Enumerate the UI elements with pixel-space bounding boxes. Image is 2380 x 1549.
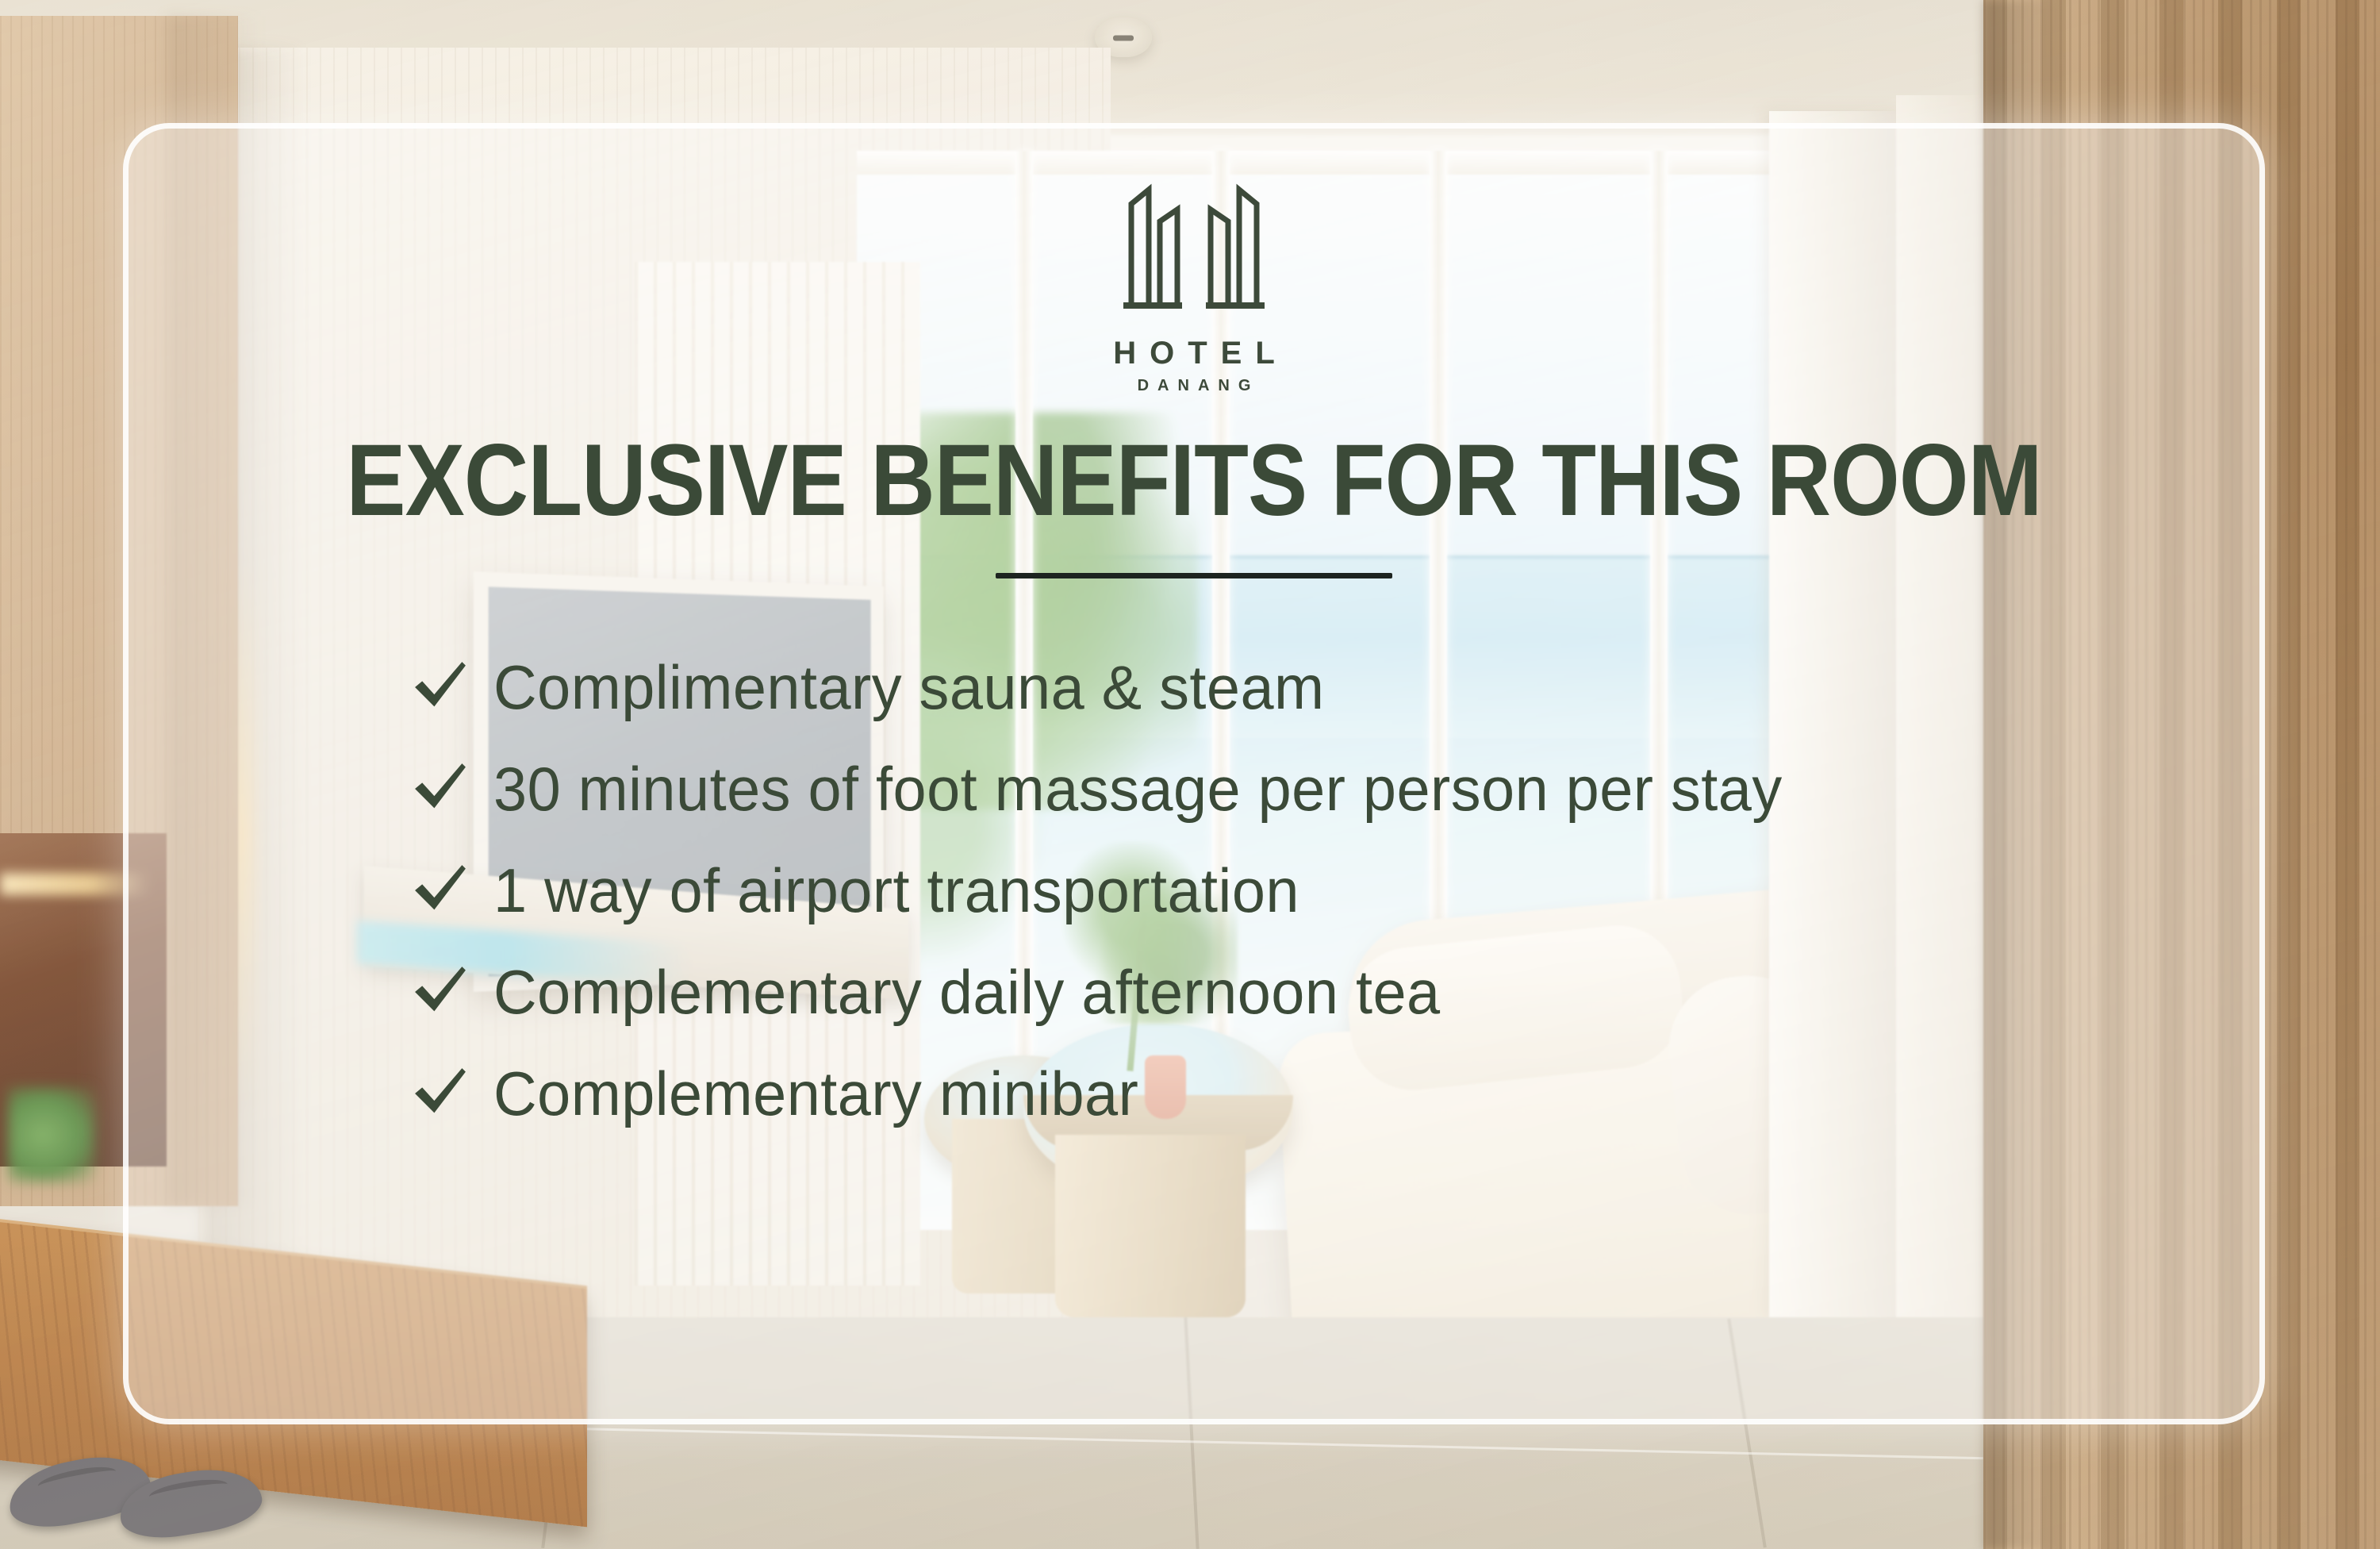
- brand-logo: HOTEL DANANG: [1051, 172, 1337, 395]
- list-item: Complementary minibar: [410, 1043, 2212, 1144]
- benefits-card: HOTEL DANANG EXCLUSIVE BENEFITS FOR THIS…: [123, 123, 2265, 1424]
- page-title: EXCLUSIVE BENEFITS FOR THIS ROOM: [256, 422, 2132, 539]
- foliage-left: [8, 1087, 95, 1182]
- benefit-label: 30 minutes of foot massage per person pe…: [493, 758, 1783, 820]
- benefit-label: 1 way of airport transportation: [493, 859, 1299, 921]
- benefit-label: Complimentary sauna & steam: [493, 656, 1325, 718]
- brand-name: HOTEL: [1051, 336, 1337, 371]
- check-icon: [410, 1063, 493, 1124]
- list-item: 30 minutes of foot massage per person pe…: [410, 738, 2212, 840]
- list-item: 1 way of airport transportation: [410, 840, 2212, 941]
- check-icon: [410, 759, 493, 819]
- list-item: Complimentary sauna & steam: [410, 636, 2212, 738]
- brand-location: DANANG: [1051, 377, 1337, 395]
- hotel-m-monogram-icon: [1103, 172, 1285, 331]
- check-icon: [410, 860, 493, 921]
- check-icon: [410, 657, 493, 717]
- title-divider: [996, 573, 1392, 578]
- benefit-label: Complementary daily afternoon tea: [493, 961, 1441, 1023]
- benefit-label: Complementary minibar: [493, 1063, 1138, 1124]
- list-item: Complementary daily afternoon tea: [410, 941, 2212, 1043]
- check-icon: [410, 962, 493, 1022]
- benefits-list: Complimentary sauna & steam 30 minutes o…: [410, 636, 2212, 1144]
